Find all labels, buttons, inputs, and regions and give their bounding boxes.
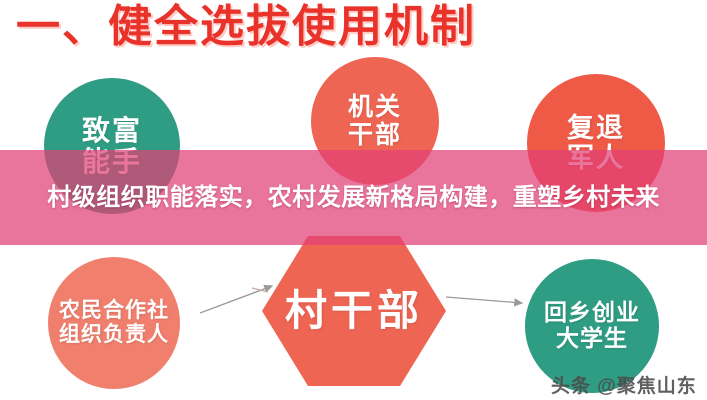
connector-center-to-huixiang <box>446 297 522 303</box>
node-futui-line-1: 复退 <box>567 113 625 143</box>
image-canvas: 一、健全选拔使用机制 致富 能手 机关 干部 复退 军人 农民合作社 组织负责人… <box>0 0 707 400</box>
node-jiguan-line-2: 干部 <box>348 121 402 149</box>
node-zhifu-line-1: 致富 <box>82 115 142 146</box>
node-huixiang-line-2: 大学生 <box>556 326 628 352</box>
node-nongmin-line-1: 农民合作社 <box>59 299 169 323</box>
node-nongmin-line-2: 组织负责人 <box>59 323 169 347</box>
node-huixiang-line-1: 回乡创业 <box>544 300 640 326</box>
headline-text: 村级组织职能落实，农村发展新格局构建，重塑乡村未来 <box>47 181 660 214</box>
node-cunganbu-label: 村干部 <box>285 287 423 334</box>
page-title: 一、健全选拔使用机制 <box>16 4 476 50</box>
headline-banner: 村级组织职能落实，农村发展新格局构建，重塑乡村未来 <box>0 150 707 245</box>
node-jiguan-line-1: 机关 <box>348 93 402 121</box>
node-nongmin-hezuoshe[interactable]: 农民合作社 组织负责人 <box>48 257 180 389</box>
connector-nongmin-to-center <box>200 286 272 313</box>
connector-stub-left <box>252 288 268 292</box>
node-cunganbu-center[interactable]: 村干部 <box>262 236 446 386</box>
watermark-label: 头条 @聚焦山东 <box>551 371 697 398</box>
